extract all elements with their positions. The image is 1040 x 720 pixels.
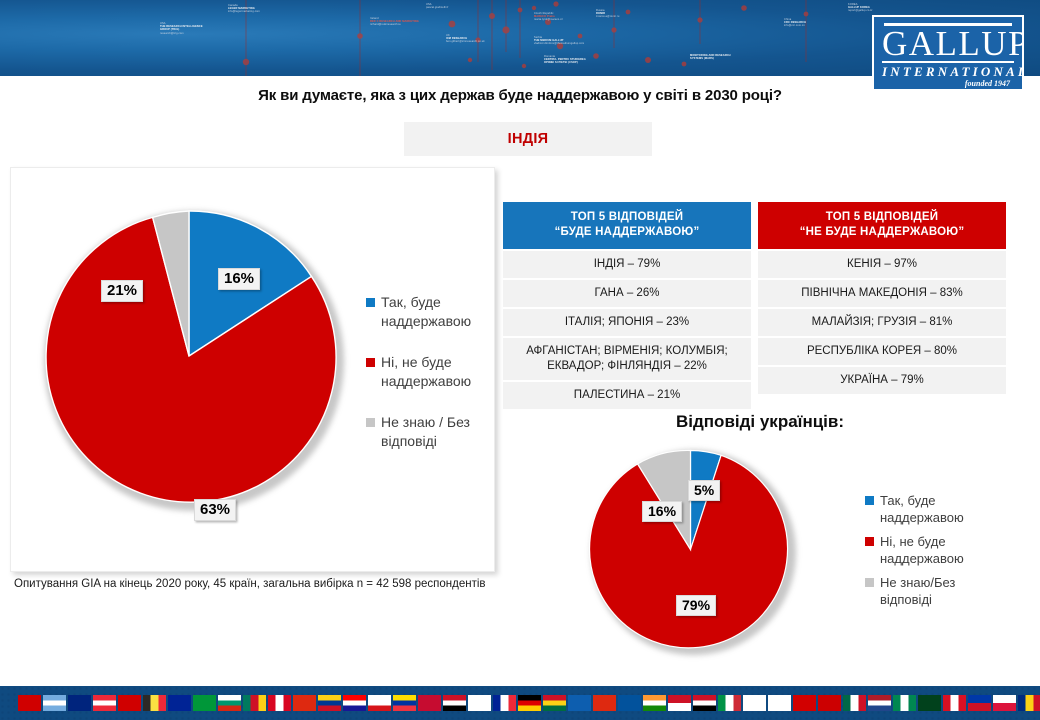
legend-item-dontknow: Не знаю/Без відповіді xyxy=(865,574,1010,608)
logo-subtitle: INTERNATIONAL xyxy=(882,61,1014,79)
global-pie-svg xyxy=(39,206,339,506)
flag-croatia-icon xyxy=(343,695,366,711)
top5-no-header: ТОП 5 ВІДПОВІДЕЙ “НЕ БУДЕ НАДДЕРЖАВОЮ” xyxy=(758,202,1006,249)
flag-philippines-icon xyxy=(968,695,991,711)
flag-indonesia-icon xyxy=(668,695,691,711)
flag-france-icon xyxy=(493,695,516,711)
flag-netherlands-icon xyxy=(868,695,891,711)
ukraine-pie-svg xyxy=(588,447,793,652)
flag-romania-icon xyxy=(1018,695,1040,711)
flag-belgium-icon xyxy=(143,695,166,711)
legend-swatch-red-icon xyxy=(865,537,874,546)
country-chip: ІНДІЯ xyxy=(404,122,652,156)
global-pie-chart: 16% 63% 21% xyxy=(39,206,339,506)
table-row: ІНДІЯ – 79% xyxy=(503,249,751,278)
top5-yes-header-line2: “БУДЕ НАДДЕРЖАВОЮ” xyxy=(509,225,745,240)
flag-macedonia-icon xyxy=(793,695,816,711)
table-row: МАЛАЙЗІЯ; ГРУЗІЯ – 81% xyxy=(758,307,1006,336)
legend-item-no: Ні, не буде наддержавою xyxy=(865,533,1010,567)
top5-table-will-be-superpower: ТОП 5 ВІДПОВІДЕЙ “БУДЕ НАДДЕРЖАВОЮ” ІНДІ… xyxy=(503,202,751,409)
flag-pakistan-icon xyxy=(918,695,941,711)
flag-ghana-icon xyxy=(543,695,566,711)
global-pie-chart-panel: 16% 63% 21% Так, буде наддержавою Ні, не… xyxy=(10,167,495,572)
flag-nigeria-icon xyxy=(893,695,916,711)
ukr-pie-label-no: 79% xyxy=(676,595,716,616)
table-row: КЕНІЯ – 97% xyxy=(758,249,1006,278)
flag-india-icon xyxy=(643,695,666,711)
flag-finland-icon xyxy=(468,695,491,711)
flag-hongkong-icon xyxy=(593,695,616,711)
flag-italy-icon xyxy=(718,695,741,711)
flag-iceland-icon xyxy=(618,695,641,711)
flag-malaysia-icon xyxy=(818,695,841,711)
flag-brazil-icon xyxy=(193,695,216,711)
table-row: АФГАНІСТАН; ВІРМЕНІЯ; КОЛУМБІЯ; ЕКВАДОР;… xyxy=(503,336,751,380)
flag-bosnia-icon xyxy=(168,695,191,711)
legend-label-no: Ні, не буде наддержавою xyxy=(880,533,1010,567)
flag-azerbaijan-icon xyxy=(118,695,141,711)
legend-swatch-gray-icon xyxy=(366,418,375,427)
flag-australia-icon xyxy=(68,695,91,711)
ukraine-section-title: Відповіді українців: xyxy=(560,412,960,432)
legend-swatch-blue-icon xyxy=(366,298,375,307)
table-row: ПАЛЕСТИНА – 21% xyxy=(503,380,751,409)
table-row: ПІВНІЧНА МАКЕДОНІЯ – 83% xyxy=(758,278,1006,307)
top5-no-header-line1: ТОП 5 ВІДПОВІДЕЙ xyxy=(764,210,1000,225)
global-pie-legend: Так, буде наддержавою Ні, не буде наддер… xyxy=(366,293,491,473)
flag-cameroon-icon xyxy=(243,695,266,711)
table-row: УКРАЇНА – 79% xyxy=(758,365,1006,394)
pie-label-dontknow: 21% xyxy=(101,280,143,302)
table-row: ІТАЛІЯ; ЯПОНІЯ – 23% xyxy=(503,307,751,336)
legend-label-no: Ні, не буде наддержавою xyxy=(381,353,491,391)
flag-bulgaria-icon xyxy=(218,695,241,711)
country-chip-label: ІНДІЯ xyxy=(508,131,549,147)
pie-label-no: 63% xyxy=(194,499,236,521)
pie-label-yes: 16% xyxy=(218,268,260,290)
table-row: РЕСПУБЛІКА КОРЕЯ – 80% xyxy=(758,336,1006,365)
flag-korea-icon xyxy=(768,695,791,711)
legend-label-dontknow: Не знаю/Без відповіді xyxy=(880,574,1010,608)
gallup-international-logo: GALLUP INTERNATIONAL founded 1947 xyxy=(872,15,1024,91)
legend-item-yes: Так, буде наддержавою xyxy=(865,492,1010,526)
logo-wordmark: GALLUP xyxy=(882,27,1014,61)
flag-china-icon xyxy=(293,695,316,711)
flag-list xyxy=(18,695,1040,712)
flag-egypt-icon xyxy=(443,695,466,711)
legend-swatch-gray-icon xyxy=(865,578,874,587)
top5-table-will-not-be-superpower: ТОП 5 ВІДПОВІДЕЙ “НЕ БУДЕ НАДДЕРЖАВОЮ” К… xyxy=(758,202,1006,394)
page-title: Як ви думаєте, яка з цих держав буде над… xyxy=(0,87,1040,104)
flag-argentina-icon xyxy=(43,695,66,711)
legend-item-yes: Так, буде наддержавою xyxy=(366,293,491,331)
flag-austria-icon xyxy=(93,695,116,711)
flag-greece-icon xyxy=(568,695,591,711)
flag-poland-icon xyxy=(993,695,1016,711)
flag-japan-icon xyxy=(743,695,766,711)
ukr-pie-label-yes: 5% xyxy=(688,480,720,501)
flag-ecuador-icon xyxy=(393,695,416,711)
legend-label-yes: Так, буде наддержавою xyxy=(880,492,1010,526)
flag-iraq-icon xyxy=(693,695,716,711)
flag-peru-icon xyxy=(943,695,966,711)
member-countries-flag-strip xyxy=(0,686,1040,720)
legend-item-dontknow: Не знаю / Без відповіді xyxy=(366,413,491,451)
flag-albania-icon xyxy=(18,695,41,711)
flag-czechia-icon xyxy=(368,695,391,711)
top5-yes-header: ТОП 5 ВІДПОВІДЕЙ “БУДЕ НАДДЕРЖАВОЮ” xyxy=(503,202,751,249)
top5-no-header-line2: “НЕ БУДЕ НАДДЕРЖАВОЮ” xyxy=(764,225,1000,240)
table-row: ГАНА – 26% xyxy=(503,278,751,307)
legend-swatch-blue-icon xyxy=(865,496,874,505)
legend-label-yes: Так, буде наддержавою xyxy=(381,293,491,331)
legend-label-dontknow: Не знаю / Без відповіді xyxy=(381,413,491,451)
flag-colombia-icon xyxy=(318,695,341,711)
ukr-pie-label-dontknow: 16% xyxy=(642,501,682,522)
legend-swatch-red-icon xyxy=(366,358,375,367)
flag-germany-icon xyxy=(518,695,541,711)
flag-canada-icon xyxy=(268,695,291,711)
ukraine-pie-legend: Так, буде наддержавою Ні, не буде наддер… xyxy=(865,492,1010,615)
flag-mexico-icon xyxy=(843,695,866,711)
legend-item-no: Ні, не буде наддержавою xyxy=(366,353,491,391)
flag-denmark-icon xyxy=(418,695,441,711)
ukraine-pie-chart: 5% 79% 16% xyxy=(588,447,793,652)
top5-yes-header-line1: ТОП 5 ВІДПОВІДЕЙ xyxy=(509,210,745,225)
survey-footnote: Опитування GIA на кінець 2020 року, 45 к… xyxy=(14,576,514,593)
